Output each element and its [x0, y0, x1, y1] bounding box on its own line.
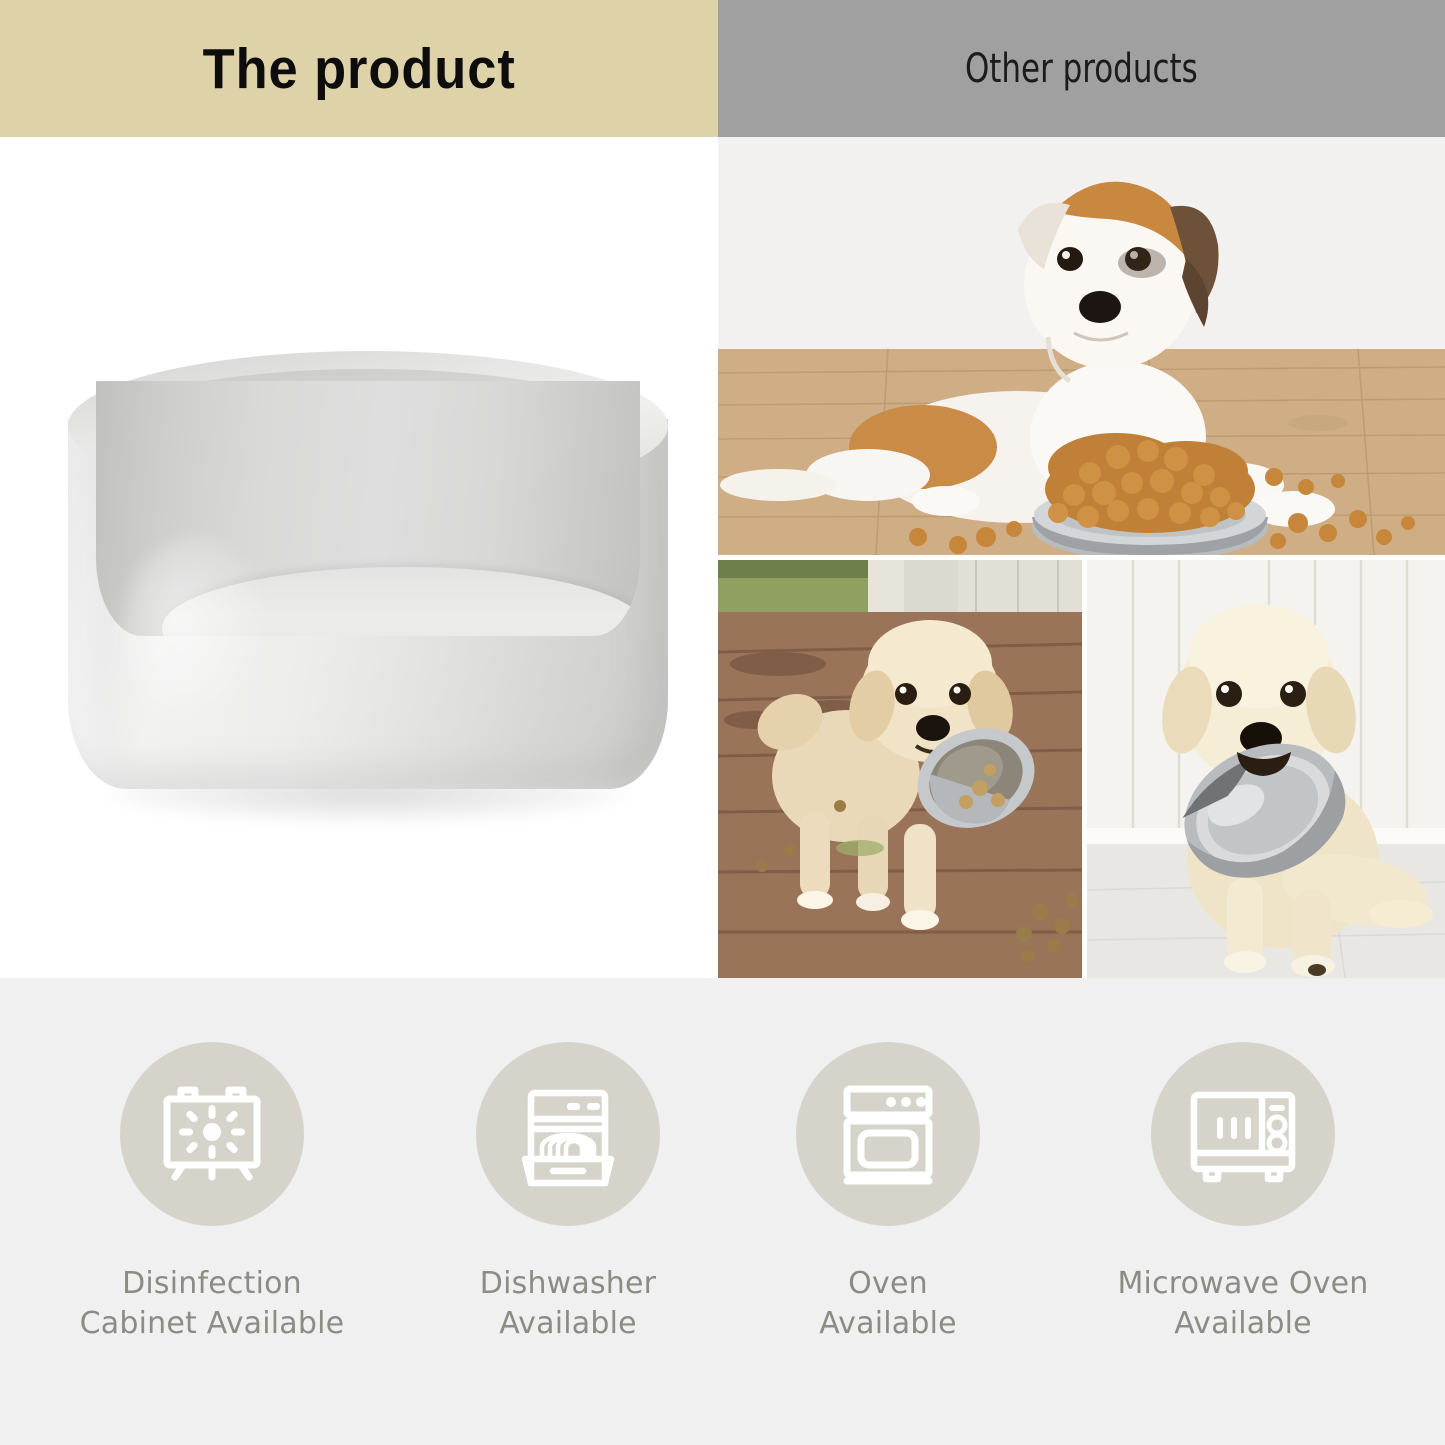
dishwasher-icon — [509, 1075, 627, 1193]
feature-label: Microwave Oven Available — [1117, 1264, 1368, 1344]
photo-golden-puppy-carrying-bowl — [718, 560, 1082, 978]
feature-icon-circle — [120, 1042, 304, 1226]
feature-oven: Oven Available — [743, 1042, 1033, 1344]
feature-label: Dishwasher Available — [480, 1264, 656, 1344]
header-bar: The product Other products — [0, 0, 1445, 137]
feature-dishwasher: Dishwasher Available — [423, 1042, 713, 1344]
header-other-band: Other products — [718, 0, 1445, 137]
photo-labrador-puppy-holding-bowl — [1087, 560, 1445, 978]
photo-terrier-with-food-bowl — [718, 137, 1445, 555]
features-section: Disinfection Cabinet Available — [0, 978, 1445, 1445]
header-other-title: Other products — [965, 46, 1198, 92]
product-photo-pane — [0, 137, 718, 978]
gallery-section — [0, 137, 1445, 978]
feature-microwave-oven: Microwave Oven Available — [1098, 1042, 1388, 1344]
microwave-oven-icon — [1184, 1075, 1302, 1193]
feature-disinfection-cabinet: Disinfection Cabinet Available — [67, 1042, 357, 1344]
feature-icon-circle — [476, 1042, 660, 1226]
other-photos-pane — [718, 137, 1445, 978]
header-product-band: The product — [0, 0, 718, 137]
bowl-specular-highlight — [120, 537, 270, 737]
feature-label: Oven Available — [819, 1264, 957, 1344]
product-bowl-image — [60, 347, 680, 867]
feature-icon-circle — [796, 1042, 980, 1226]
header-product-title: The product — [202, 36, 515, 102]
oven-icon — [829, 1075, 947, 1193]
feature-icon-circle — [1151, 1042, 1335, 1226]
disinfection-cabinet-icon — [153, 1075, 271, 1193]
feature-label: Disinfection Cabinet Available — [80, 1264, 345, 1344]
